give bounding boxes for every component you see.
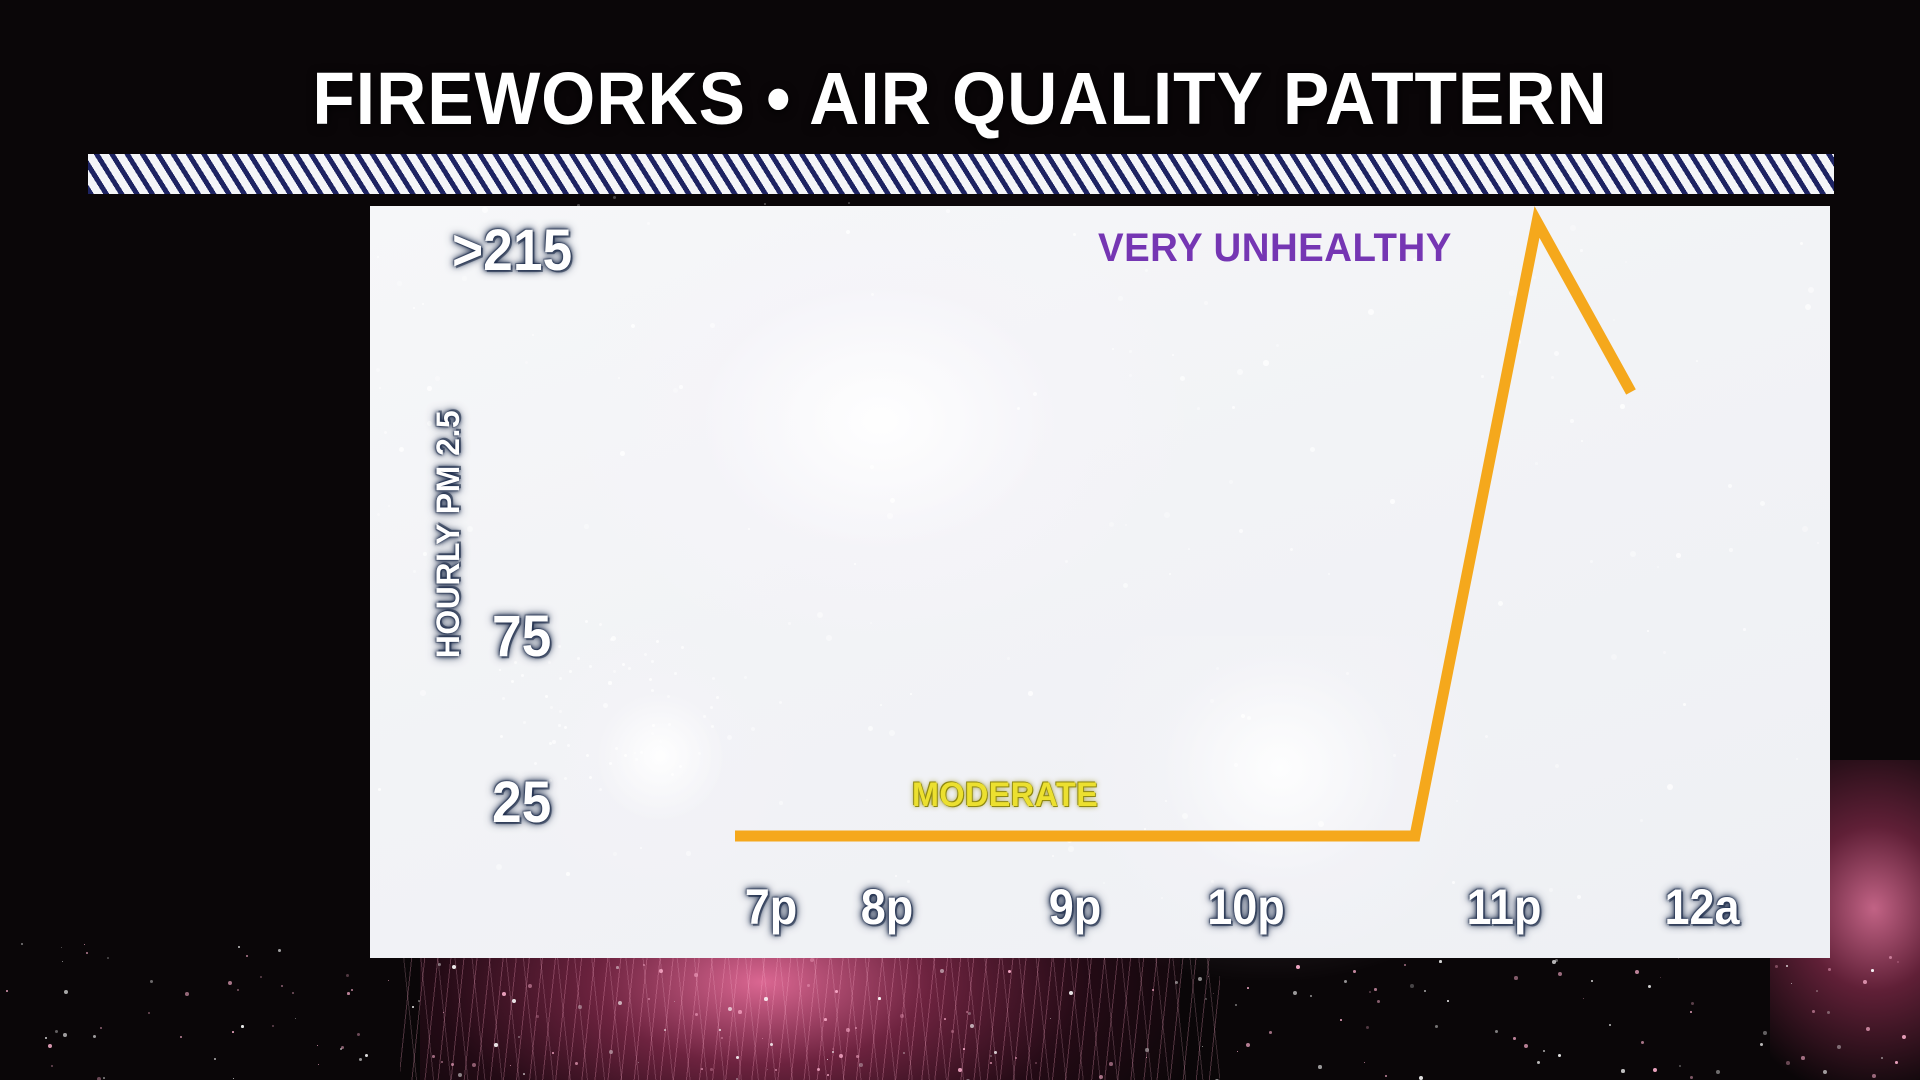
x-tick-label-11p: 11p xyxy=(1441,882,1567,932)
annotation-moderate: MODERATE xyxy=(912,778,1098,812)
hatched-divider-bar xyxy=(88,154,1834,194)
y-tick-label-75: 75 xyxy=(492,608,551,666)
y-axis-title: HOURLY PM 2.5 xyxy=(398,340,454,740)
x-tick-label-7p: 7p xyxy=(722,882,821,932)
panel-glow-left xyxy=(510,606,810,906)
y-axis-title-label: HOURLY PM 2.5 xyxy=(432,334,464,734)
x-tick-label-12a: 12a xyxy=(1639,882,1765,932)
y-tick-label-215: >215 xyxy=(452,222,572,280)
annotation-very-unhealthy: VERY UNHEALTHY xyxy=(1098,228,1452,268)
x-tick-label-8p: 8p xyxy=(838,882,937,932)
chart-panel xyxy=(370,206,1830,958)
page-title: FIREWORKS • AIR QUALITY PATTERN xyxy=(58,62,1863,136)
y-tick-label-25: 25 xyxy=(492,774,551,832)
x-tick-label-10p: 10p xyxy=(1183,882,1309,932)
x-tick-label-9p: 9p xyxy=(1026,882,1125,932)
panel-glow-upper xyxy=(570,206,1190,656)
